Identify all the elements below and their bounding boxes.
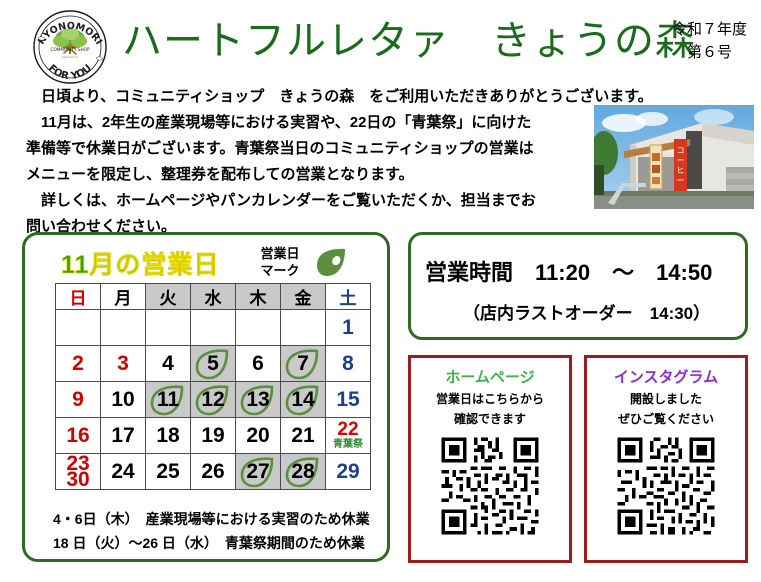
issue-year: 令和７年度 — [672, 18, 747, 41]
instagram-qr-box[interactable]: インスタグラム 開設しました ぜひご覧ください — [584, 355, 748, 563]
svg-text:kyonomori: kyonomori — [62, 55, 78, 59]
calendar-cell-open-day: 14 — [281, 382, 326, 418]
calendar-notes: 4・6日（木） 産業現場等における実習のため休業 18 日（火）～26 日（水）… — [53, 507, 383, 555]
calendar-week-row: 2345678 — [56, 346, 371, 382]
instagram-line-1: 開設しました — [587, 390, 745, 407]
calendar-cell-open-day: 12 — [191, 382, 236, 418]
instagram-heading: インスタグラム — [587, 366, 745, 387]
calendar-cell-day: 9 — [56, 382, 101, 418]
legend-line-1: 営業日 — [249, 245, 311, 262]
calendar-cell-day: 6 — [236, 346, 281, 382]
calendar-cell-festival: 22青葉祭 — [326, 418, 371, 454]
svg-text:ヒ: ヒ — [677, 166, 685, 175]
calendar-cell-empty — [101, 310, 146, 346]
shop-photo: コ ー ヒ ー — [594, 105, 754, 209]
calendar-cell-day: 29 — [326, 454, 371, 490]
calendar-cell-open-day: 11 — [146, 382, 191, 418]
page-title: ハートフルレタァ きょうの森 — [122, 18, 696, 64]
issue-number: 令和７年度 第６号 — [672, 18, 747, 64]
calendar-cell-day: 16 — [56, 418, 101, 454]
leaf-mark-icon — [315, 245, 349, 279]
legend-text: 営業日 マーク — [249, 245, 311, 279]
svg-text:COMMUNITY SHOP: COMMUNITY SHOP — [51, 47, 90, 52]
business-hours-range: 11:20 ～ 14:50 — [535, 260, 712, 285]
homepage-line-2: 確認できます — [411, 410, 569, 427]
calendar-cell-day: 24 — [101, 454, 146, 490]
calendar-cell-day: 8 — [326, 346, 371, 382]
calendar-cell-open-day: 7 — [281, 346, 326, 382]
calendar-cell-open-day: 5 — [191, 346, 236, 382]
homepage-qr-box[interactable]: ホームページ 営業日はこちらから 確認できます — [408, 355, 572, 563]
business-days-calendar-panel: 11月の営業日 営業日 マーク 日 月 火 水 木 — [22, 232, 390, 562]
newsletter-page: KYONOMORI FOR YOU COMMUNITY SHOP kyonomo… — [0, 0, 761, 582]
calendar-week-row: 9101112131415 — [56, 382, 371, 418]
homepage-qr-code[interactable] — [438, 434, 542, 538]
calendar-cell-day: 17 — [101, 418, 146, 454]
header-sunday: 日 — [56, 284, 101, 310]
calendar-week-row: 2330242526272829 — [56, 454, 371, 490]
calendar-cell-day: 4 — [146, 346, 191, 382]
svg-text:ー: ー — [677, 176, 685, 185]
calendar-note-1: 4・6日（木） 産業現場等における実習のため休業 — [53, 507, 383, 531]
last-order-note: （店内ラストオーダー 14:30） — [463, 299, 710, 324]
header-thursday: 木 — [236, 284, 281, 310]
calendar-cell-empty — [281, 310, 326, 346]
calendar-week-row: 16171819202122青葉祭 — [56, 418, 371, 454]
calendar-week-row: 1 — [56, 310, 371, 346]
calendar-cell-open-day: 13 — [236, 382, 281, 418]
homepage-line-1: 営業日はこちらから — [411, 390, 569, 407]
instagram-qr-code[interactable] — [614, 434, 718, 538]
business-hours-box: 営業時間11:20 ～ 14:50 （店内ラストオーダー 14:30） — [408, 232, 748, 340]
svg-text:コ: コ — [677, 146, 685, 155]
calendar-cell-day: 20 — [236, 418, 281, 454]
intro-paragraph-2: 11月は、2年生の産業現場等における実習や、22日の「青葉祭」に向けた — [26, 110, 616, 136]
business-hours-label: 営業時間 — [425, 260, 513, 285]
calendar-cell-empty — [146, 310, 191, 346]
header-monday: 月 — [101, 284, 146, 310]
calendar-cell-empty — [56, 310, 101, 346]
calendar-title: 11月の営業日 — [61, 245, 219, 281]
calendar-cell-day: 25 — [146, 454, 191, 490]
calendar-cell-day: 10 — [101, 382, 146, 418]
header-saturday: 土 — [326, 284, 371, 310]
instagram-line-2: ぜひご覧ください — [587, 410, 745, 427]
open-day-legend: 営業日 マーク — [249, 243, 379, 285]
intro-text: 日頃より、コミュニティショップ きょうの森 をご利用いただきありがとうございます… — [26, 84, 616, 240]
svg-text:ー: ー — [677, 156, 685, 165]
intro-paragraph-3: 準備等で休業日がございます。青葉祭当日のコミュニティショップの営業は — [26, 136, 616, 162]
header-tuesday: 火 — [146, 284, 191, 310]
calendar-cell-day: 26 — [191, 454, 236, 490]
calendar-note-2: 18 日（火）～26 日（水） 青葉祭期間のため休業 — [53, 531, 383, 555]
intro-paragraph-5: 詳しくは、ホームページやパンカレンダーをご覧いただくか、担当までお — [26, 188, 616, 214]
calendar-cell-day: 1 — [326, 310, 371, 346]
calendar-body: 12345678910111213141516171819202122青葉祭23… — [56, 310, 371, 490]
calendar-cell-day: 21 — [281, 418, 326, 454]
calendar-cell-empty — [236, 310, 281, 346]
calendar-cell-open-day: 28 — [281, 454, 326, 490]
header-friday: 金 — [281, 284, 326, 310]
calendar-cell-day: 3 — [101, 346, 146, 382]
issue-no: 第６号 — [672, 41, 747, 64]
intro-paragraph-4: メニューを限定し、整理券を配布しての営業となります。 — [26, 162, 616, 188]
calendar-cell-open-day: 27 — [236, 454, 281, 490]
page-header: KYONOMORI FOR YOU COMMUNITY SHOP kyonomo… — [0, 0, 761, 82]
calendar-cell-day: 19 — [191, 418, 236, 454]
calendar-cell-day: 2330 — [56, 454, 101, 490]
legend-line-2: マーク — [249, 262, 311, 279]
calendar-table: 日 月 火 水 木 金 土 12345678910111213141516171… — [55, 283, 371, 490]
calendar-header-row: 日 月 火 水 木 金 土 — [56, 284, 371, 310]
business-hours-line: 営業時間11:20 ～ 14:50 — [425, 255, 712, 287]
header-wednesday: 水 — [191, 284, 236, 310]
intro-paragraph-1: 日頃より、コミュニティショップ きょうの森 をご利用いただきありがとうございます… — [26, 84, 616, 110]
calendar-cell-day: 18 — [146, 418, 191, 454]
shop-logo-icon: KYONOMORI FOR YOU COMMUNITY SHOP kyonomo… — [26, 8, 114, 86]
calendar-cell-empty — [191, 310, 236, 346]
calendar-cell-day: 2 — [56, 346, 101, 382]
homepage-heading: ホームページ — [411, 366, 569, 387]
calendar-cell-day: 15 — [326, 382, 371, 418]
